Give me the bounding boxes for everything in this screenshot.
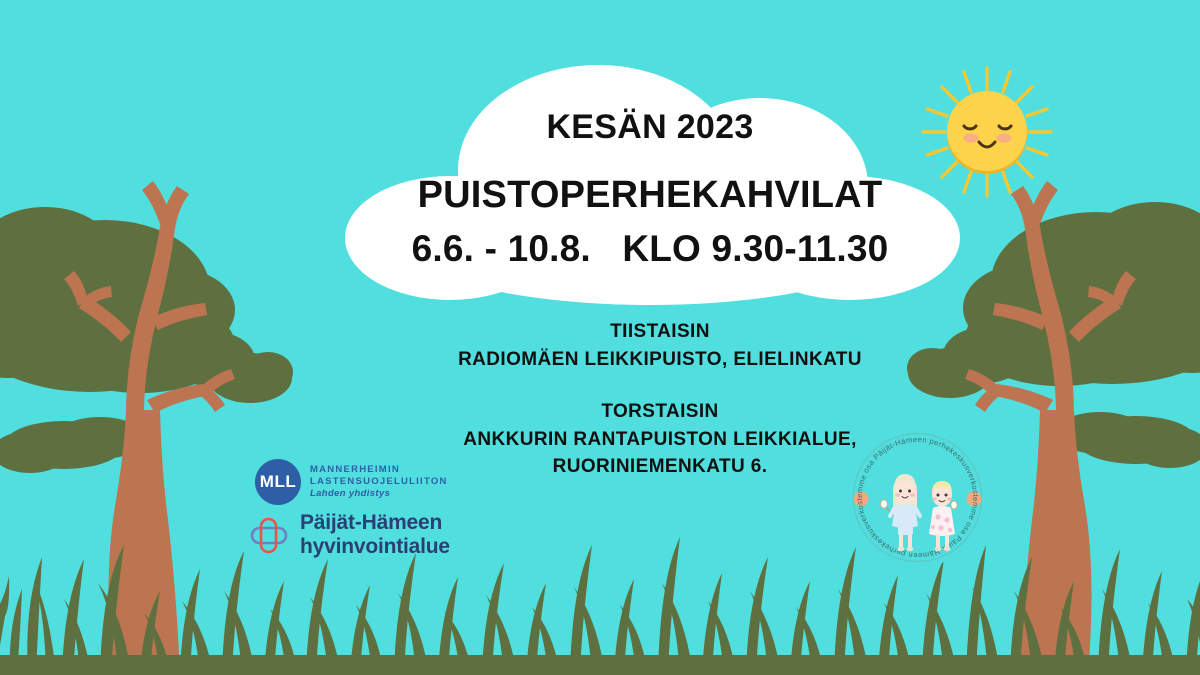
paijat-hame-logo: Päijät-Hämeen hyvinvointialue: [248, 511, 450, 558]
grass-icon: [0, 0, 1200, 675]
poster-canvas: KESÄN 2023 PUISTOPERHEKAHVILAT 6.6. - 10…: [0, 0, 1200, 675]
mll-mark-icon: MLL: [255, 459, 301, 505]
mll-line-1: MANNERHEIMIN: [310, 464, 448, 476]
ph-line-1: Päijät-Hämeen: [300, 511, 450, 535]
family-centre-badge: Olemme osa Päijät-Hämeen perhekeskusverk…: [845, 425, 990, 570]
mll-line-2: LASTENSUOJELULIITON: [310, 476, 448, 488]
ph-line-2: hyvinvointialue: [300, 535, 450, 559]
paijat-hame-cross-icon: [248, 514, 290, 556]
mll-line-3: Lahden yhdistys: [310, 488, 448, 500]
mll-wordmark: MANNERHEIMIN LASTENSUOJELULIITON Lahden …: [310, 464, 448, 500]
paijat-hame-wordmark: Päijät-Hämeen hyvinvointialue: [300, 511, 450, 558]
mll-mark-text: MLL: [260, 472, 296, 492]
mll-logo: MLL MANNERHEIMIN LASTENSUOJELULIITON Lah…: [255, 459, 448, 505]
